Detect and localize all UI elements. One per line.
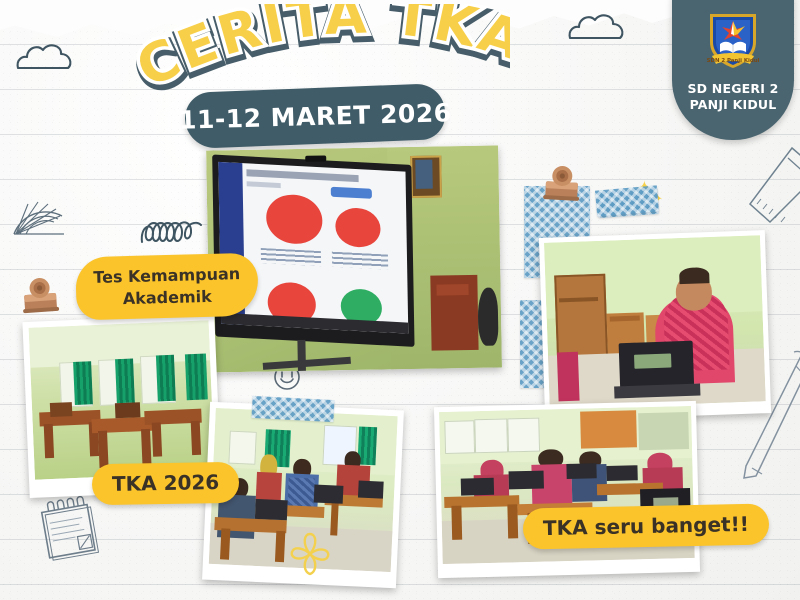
school-name-line1: SD NEGERI 2 xyxy=(687,81,778,97)
school-identity-tab: SDN 2 Panji Kidul SD NEGERI 2 PANJI KIDU… xyxy=(672,0,794,140)
school-name-line2: PANJI KIDUL xyxy=(687,97,778,113)
squiggle-loops-icon xyxy=(138,212,210,246)
notepad-icon xyxy=(35,493,103,564)
date-banner-text: 11-12 MARET 2026 xyxy=(178,98,451,135)
tka-seru-banget-badge: TKA seru banget!! xyxy=(523,503,770,549)
badge-text: TKA 2026 xyxy=(112,469,220,498)
photo-smartboard-dashboard xyxy=(206,145,502,372)
binder-clip-icon xyxy=(17,271,64,318)
washi-tape xyxy=(595,185,659,216)
ruler-icon xyxy=(748,146,800,242)
date-banner: 11-12 MARET 2026 xyxy=(184,83,446,149)
badge-line-2: Akademik xyxy=(123,285,212,309)
tes-kemampuan-akademik-badge: Tes Kemampuan Akademik xyxy=(75,253,259,321)
school-crest-icon: SDN 2 Panji Kidul xyxy=(704,8,762,74)
badge-text: TKA seru banget!! xyxy=(543,511,749,542)
badge-line-1: Tes Kemampuan xyxy=(93,263,240,288)
photo-students-working-right xyxy=(434,401,700,578)
crest-ribbon-text: SDN 2 Panji Kidul xyxy=(707,58,760,64)
fan-shell-icon xyxy=(8,190,68,240)
cloud-icon xyxy=(14,40,76,74)
binder-clip-icon xyxy=(539,159,585,205)
poster-canvas: ✦ ✦ CERITA TKA CERITA TKA 11-12 MARET 20… xyxy=(0,0,800,600)
photo-student-laptop-portrait xyxy=(539,230,771,421)
tka-2026-badge: TKA 2026 xyxy=(92,462,240,506)
washi-tape xyxy=(251,396,334,422)
